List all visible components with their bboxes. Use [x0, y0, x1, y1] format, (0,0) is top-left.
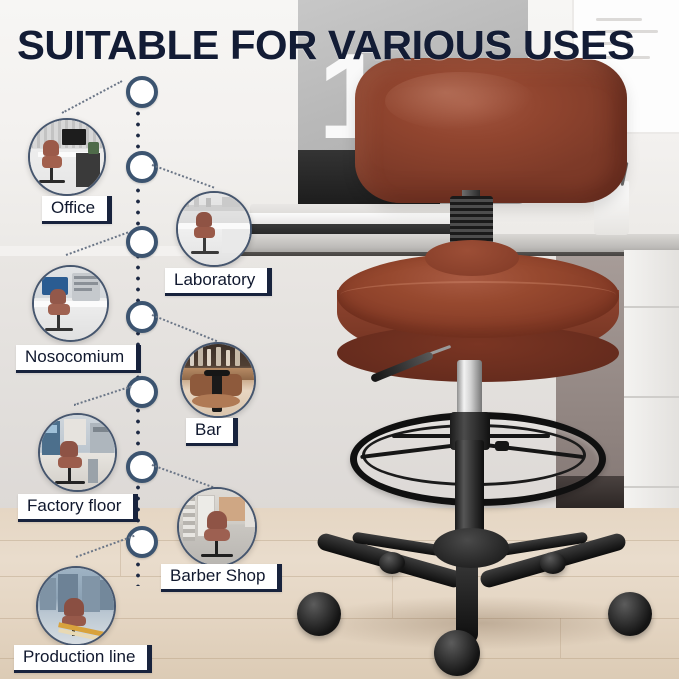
factory-floor-thumbnail[interactable] [38, 413, 117, 492]
use-case-label-barber-shop[interactable]: Barber Shop [161, 564, 282, 592]
caster-wheel-left [297, 592, 341, 636]
caster-wheel-front [434, 630, 480, 676]
use-case-label-laboratory[interactable]: Laboratory [165, 268, 272, 296]
backrest-highlight [385, 72, 535, 130]
nosocomium-thumbnail[interactable] [32, 265, 109, 342]
use-case-label-production-line[interactable]: Production line [14, 645, 152, 673]
seat-cushion-rim-highlight [340, 281, 616, 309]
barber-shop-thumbnail[interactable] [177, 487, 257, 567]
caster-wheel-right [608, 592, 652, 636]
laboratory-thumbnail[interactable] [176, 191, 252, 267]
base-center-hub [433, 528, 509, 568]
use-case-label-office[interactable]: Office [42, 196, 112, 224]
caster-wheel-back-right [540, 552, 566, 574]
caster-wheel-back-left [379, 552, 405, 574]
production-line-thumbnail[interactable] [36, 566, 116, 646]
foot-ring-adjust-knob [495, 441, 509, 451]
page-title: SUITABLE FOR VARIOUS USES [17, 22, 635, 69]
use-case-label-nosocomium[interactable]: Nosocomium [16, 345, 141, 373]
chair-floor-shadow [300, 596, 660, 650]
use-case-label-bar[interactable]: Bar [186, 418, 238, 446]
infographic-canvas: 1 [0, 0, 679, 679]
seat-center-boss [425, 240, 519, 276]
office-thumbnail[interactable] [28, 118, 106, 196]
bar-thumbnail[interactable] [180, 342, 256, 418]
use-case-label-factory-floor[interactable]: Factory floor [18, 494, 138, 522]
